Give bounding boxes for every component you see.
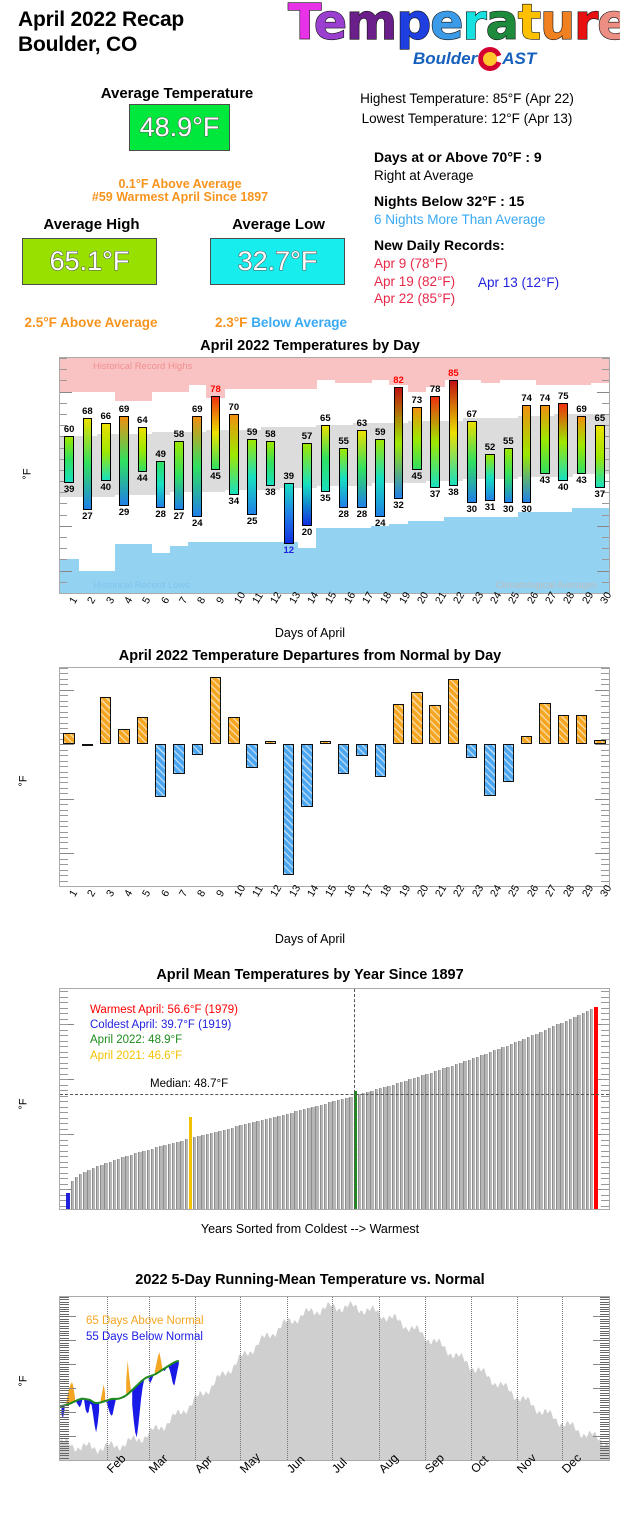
record-low-band bbox=[389, 524, 408, 593]
year-bar bbox=[455, 1064, 458, 1209]
chart3-minor-tick bbox=[60, 1178, 68, 1179]
chart3-minor-tick-right bbox=[601, 1156, 609, 1157]
chart3-annotation: Warmest April: 56.6°F (1979) bbox=[90, 1003, 238, 1018]
chart3-minor-tick bbox=[60, 1079, 68, 1080]
chart2-minor-tick-right bbox=[601, 755, 609, 756]
chart4-minor-tick bbox=[60, 1333, 69, 1334]
chart4-minor-tick bbox=[60, 1390, 69, 1391]
chart4-minor-tick-right bbox=[600, 1345, 609, 1346]
chart3-minor-tick bbox=[60, 991, 68, 992]
temp-bar bbox=[375, 439, 385, 517]
chart1-minor-tick-right bbox=[602, 582, 609, 583]
chart3-minor-tick-right bbox=[601, 1112, 609, 1113]
chart3-minor-tick-right bbox=[601, 1074, 609, 1075]
lowest-temperature: Lowest Temperature: 12°F (Apr 13) bbox=[318, 109, 616, 129]
departure-bar bbox=[320, 741, 331, 744]
chart2-minor-tick-right bbox=[601, 821, 609, 822]
chart1-minor-tick-right bbox=[602, 380, 609, 381]
chart2-gridline bbox=[60, 690, 74, 691]
year-bar bbox=[577, 1015, 580, 1209]
chart2-minor-tick-right bbox=[601, 870, 609, 871]
year-bar bbox=[210, 1133, 213, 1209]
chart2-minor-tick-right bbox=[601, 766, 609, 767]
logo-text-right: AST bbox=[502, 49, 536, 69]
chart4-minor-tick-right bbox=[600, 1362, 609, 1363]
temp-bar bbox=[595, 425, 605, 488]
chart4-minor-tick-right bbox=[600, 1367, 609, 1368]
year-bar bbox=[370, 1091, 373, 1209]
chart3-minor-tick-right bbox=[601, 1145, 609, 1146]
chart4-minor-tick bbox=[60, 1405, 69, 1406]
chart2-minor-tick-right bbox=[601, 810, 609, 811]
year-bar bbox=[155, 1147, 158, 1209]
chart4-minor-tick-right bbox=[600, 1426, 609, 1427]
above-normal-area bbox=[101, 1385, 106, 1403]
year-bar bbox=[294, 1111, 297, 1209]
year-bar bbox=[451, 1066, 454, 1209]
year-bar bbox=[434, 1071, 437, 1209]
chart4-minor-tick-right bbox=[600, 1371, 609, 1372]
chart2-minor-tick-right bbox=[601, 723, 609, 724]
chart4-minor-tick-right bbox=[600, 1355, 609, 1356]
chart1-minor-tick bbox=[60, 582, 67, 583]
days-above-70-header: Days at or Above 70°F : 9 bbox=[374, 149, 620, 167]
temp-bar bbox=[247, 439, 257, 515]
chart2-day-tick: 7 bbox=[177, 888, 190, 899]
chart3-minor-tick bbox=[60, 1046, 68, 1047]
year-bar bbox=[320, 1105, 323, 1209]
chart2-day-tick: 1 bbox=[67, 888, 80, 899]
temp-bar bbox=[412, 407, 422, 470]
chart2-minor-tick bbox=[60, 684, 68, 685]
year-bar bbox=[176, 1142, 179, 1209]
low-value-label: 38 bbox=[448, 487, 459, 498]
year-bar bbox=[172, 1143, 175, 1209]
chart4-minor-tick bbox=[60, 1383, 69, 1384]
chart2-minor-tick bbox=[60, 832, 68, 833]
chart3-minor-tick bbox=[60, 1151, 68, 1152]
chart3-minor-tick bbox=[60, 1096, 68, 1097]
year-bar bbox=[506, 1046, 509, 1209]
chart3-minor-tick-right bbox=[601, 1184, 609, 1185]
chart2-gridline bbox=[60, 744, 74, 745]
chart4-minor-tick bbox=[60, 1347, 69, 1348]
high-value-label: 78 bbox=[430, 384, 441, 395]
chart4-month-gridline bbox=[240, 1297, 241, 1460]
departure-bar bbox=[521, 736, 532, 744]
year-bar bbox=[421, 1075, 424, 1209]
record-high-band bbox=[481, 358, 500, 383]
avg-low-value-box: 32.7°F bbox=[210, 238, 345, 285]
avg-low-title: Average Low bbox=[196, 216, 361, 233]
chart4-minor-tick bbox=[60, 1429, 69, 1430]
chart3-annotation: Coldest April: 39.7°F (1919) bbox=[90, 1018, 238, 1033]
departure-bar bbox=[192, 744, 203, 755]
chart1-minor-tick bbox=[60, 548, 67, 549]
temp-bar bbox=[266, 441, 276, 486]
brand-letter-10: e bbox=[597, 0, 620, 51]
chart3-minor-tick bbox=[60, 1101, 68, 1102]
low-value-label: 29 bbox=[119, 507, 130, 518]
record-row: Apr 9 (78°F) bbox=[374, 255, 620, 272]
chart4-minor-tick bbox=[60, 1359, 69, 1360]
chart4-minor-tick-right bbox=[600, 1407, 609, 1408]
chart4-minor-tick-right bbox=[600, 1331, 609, 1332]
year-bar bbox=[252, 1122, 255, 1209]
median-line bbox=[60, 1094, 609, 1095]
chart4-minor-tick-right bbox=[600, 1412, 609, 1413]
chart4-minor-tick-right bbox=[600, 1333, 609, 1334]
brand-letter-8: u bbox=[540, 0, 574, 51]
chart2-day-tick: 2 bbox=[85, 888, 98, 899]
chart3-minor-tick-right bbox=[601, 1118, 609, 1119]
chart4-minor-tick bbox=[60, 1438, 69, 1439]
avg-temp-note-2: #59 Warmest April Since 1897 bbox=[52, 190, 308, 204]
nights-below-32-header: Nights Below 32°F : 15 bbox=[374, 193, 620, 211]
chart3-minor-tick bbox=[60, 1085, 68, 1086]
low-value-label: 27 bbox=[174, 511, 185, 522]
chart2-day-tick: 9 bbox=[214, 888, 227, 899]
chart2-minor-tick bbox=[60, 881, 68, 882]
page-title-line2: Boulder, CO bbox=[18, 33, 184, 58]
year-bar bbox=[535, 1034, 538, 1209]
year-bar bbox=[396, 1083, 399, 1209]
chart4-minor-tick bbox=[60, 1395, 69, 1396]
year-bar bbox=[227, 1129, 230, 1209]
chart1-day-tick: 1 bbox=[67, 595, 80, 606]
temp-bar bbox=[339, 448, 349, 508]
departure-bar bbox=[484, 744, 495, 796]
chart4-minor-tick-right bbox=[600, 1369, 609, 1370]
chart3-minor-tick-right bbox=[601, 1019, 609, 1020]
chart3-minor-tick bbox=[60, 1052, 68, 1053]
chart3-minor-tick bbox=[60, 1035, 68, 1036]
chart4-minor-tick bbox=[60, 1426, 69, 1427]
year-bar bbox=[358, 1094, 361, 1209]
chart4-minor-tick-right bbox=[600, 1455, 609, 1456]
chart1-minor-tick bbox=[60, 369, 67, 370]
chart3-minor-tick bbox=[60, 1189, 68, 1190]
chart2-day-tick: 8 bbox=[195, 888, 208, 899]
chart4-minor-tick-right bbox=[600, 1309, 609, 1310]
year-bar bbox=[497, 1049, 500, 1209]
daily-temperature-chart: 0204060806039682766406929644449285827692… bbox=[59, 357, 610, 594]
record-row-cold: Apr 13 (12°F) bbox=[478, 274, 559, 291]
year-bar bbox=[130, 1155, 133, 1209]
departure-bar bbox=[393, 704, 404, 744]
chart2-minor-tick bbox=[60, 772, 68, 773]
chart4-minor-tick-right bbox=[600, 1297, 609, 1298]
chart4-minor-tick bbox=[60, 1335, 69, 1336]
record-low-band bbox=[444, 517, 463, 593]
year-bar bbox=[408, 1079, 411, 1209]
temp-bar bbox=[558, 403, 568, 481]
year-bar bbox=[468, 1060, 471, 1209]
chart2-gridline-right bbox=[595, 690, 609, 691]
year-bar bbox=[375, 1089, 378, 1209]
brand-letter-0: T bbox=[288, 0, 314, 51]
chart3-annotation: April 2022: 48.9°F bbox=[90, 1033, 238, 1048]
high-value-label: 73 bbox=[412, 395, 423, 406]
chart3-minor-tick bbox=[60, 1112, 68, 1113]
high-value-label: 85 bbox=[448, 368, 459, 379]
chart2-day-tick: 3 bbox=[104, 888, 117, 899]
chart4-minor-tick bbox=[60, 1371, 69, 1372]
record-low-band bbox=[463, 517, 482, 593]
temp-bar bbox=[156, 461, 166, 508]
year-bar bbox=[117, 1159, 120, 1209]
chart4-minor-tick-right bbox=[600, 1321, 609, 1322]
temp-bar bbox=[394, 387, 404, 499]
chart2-minor-tick bbox=[60, 826, 68, 827]
chart3-minor-tick bbox=[60, 1173, 68, 1174]
record-high-band bbox=[60, 358, 79, 392]
chart4-minor-tick-right bbox=[600, 1390, 609, 1391]
chart4-minor-tick bbox=[60, 1309, 69, 1310]
year-bar bbox=[565, 1021, 568, 1209]
chart3-minor-tick-right bbox=[601, 1008, 609, 1009]
page-title-line1: April 2022 Recap bbox=[18, 8, 184, 33]
record-high-band bbox=[261, 358, 280, 389]
chart3-minor-tick-right bbox=[601, 1162, 609, 1163]
median-label: Median: 48.7°F bbox=[150, 1078, 228, 1090]
chart1-day-tick: 5 bbox=[140, 595, 153, 606]
chart3-minor-tick-right bbox=[601, 1041, 609, 1042]
chart2-gridline bbox=[60, 853, 74, 854]
year-bar bbox=[303, 1109, 306, 1209]
temp-bar bbox=[211, 396, 221, 470]
year-bar bbox=[248, 1123, 251, 1209]
chart1-minor-tick bbox=[60, 559, 67, 560]
year-bar bbox=[539, 1032, 542, 1209]
logo-text-left: Boulder bbox=[413, 49, 477, 69]
record-highs-band-label: Historical Record Highs bbox=[93, 361, 192, 372]
departure-bar bbox=[137, 717, 148, 744]
high-value-label: 60 bbox=[64, 424, 75, 435]
record-lows-band-label: Historical Record Lows bbox=[93, 580, 190, 591]
chart4-minor-tick-right bbox=[600, 1429, 609, 1430]
chart2-minor-tick-right bbox=[601, 782, 609, 783]
year-bar bbox=[510, 1044, 513, 1209]
year-bar bbox=[459, 1063, 462, 1209]
brand-wordmark: Temperature bbox=[288, 0, 620, 47]
year-bar bbox=[387, 1086, 390, 1209]
chart4-minor-tick-right bbox=[600, 1405, 609, 1406]
chart4-minor-tick-right bbox=[600, 1388, 609, 1389]
chart2-minor-tick-right bbox=[601, 793, 609, 794]
record-low-band bbox=[188, 542, 207, 593]
chart2-minor-tick-right bbox=[601, 712, 609, 713]
chart3-minor-tick-right bbox=[601, 1178, 609, 1179]
year-bar bbox=[379, 1088, 382, 1209]
chart4-legend: 65 Days Above Normal55 Days Below Normal bbox=[86, 1313, 204, 1345]
chart2-gridline-right bbox=[595, 853, 609, 854]
chart4-minor-tick bbox=[60, 1316, 69, 1317]
year-bar bbox=[125, 1156, 128, 1209]
chart2-gridline bbox=[60, 799, 74, 800]
chart2-minor-tick bbox=[60, 723, 68, 724]
year-bar bbox=[151, 1149, 154, 1209]
chart3-minor-tick-right bbox=[601, 1140, 609, 1141]
record-low-band bbox=[335, 528, 354, 593]
year-bar bbox=[79, 1174, 82, 1209]
low-value-label: 28 bbox=[338, 509, 349, 520]
chart3-annotation: April 2021: 46.6°F bbox=[90, 1049, 238, 1064]
chart3-minor-tick bbox=[60, 1184, 68, 1185]
chart4-minor-tick bbox=[60, 1367, 69, 1368]
chart3-minor-tick-right bbox=[601, 1079, 609, 1080]
chart4-minor-tick bbox=[60, 1302, 69, 1303]
april-means-by-year-chart: 55504540Median: 48.7°FWarmest April: 56.… bbox=[59, 988, 610, 1210]
record-low-band bbox=[298, 548, 317, 593]
year-bar bbox=[522, 1039, 525, 1209]
year-bar bbox=[328, 1102, 331, 1209]
chart4-minor-tick-right bbox=[600, 1381, 609, 1382]
chart4-minor-tick-right bbox=[600, 1458, 609, 1459]
chart4-minor-tick-right bbox=[600, 1386, 609, 1387]
low-value-label: 25 bbox=[247, 516, 258, 527]
chart2-minor-tick bbox=[60, 766, 68, 767]
chart2-minor-tick bbox=[60, 848, 68, 849]
departure-bar bbox=[173, 744, 184, 773]
chart4-minor-tick bbox=[60, 1424, 69, 1425]
year-bar bbox=[514, 1042, 517, 1209]
chart1-minor-tick bbox=[60, 593, 67, 594]
high-value-label: 75 bbox=[558, 391, 569, 402]
chart4-minor-tick bbox=[60, 1323, 69, 1324]
year-bar bbox=[113, 1160, 116, 1209]
chart2-x-label: Days of April bbox=[0, 932, 620, 946]
high-value-label: 64 bbox=[137, 415, 148, 426]
year-bar bbox=[552, 1026, 555, 1209]
chart3-minor-tick-right bbox=[601, 1123, 609, 1124]
temp-bar bbox=[192, 416, 202, 517]
year-bar bbox=[417, 1077, 420, 1209]
chart4-minor-tick bbox=[60, 1453, 69, 1454]
chart4-minor-tick bbox=[60, 1319, 69, 1320]
departure-bar bbox=[301, 744, 312, 807]
chart4-minor-tick-right bbox=[600, 1460, 609, 1461]
temp-bar bbox=[174, 441, 184, 510]
chart2-minor-tick-right bbox=[601, 788, 609, 789]
record-high-band bbox=[518, 358, 537, 380]
chart1-gridline bbox=[60, 392, 72, 393]
chart2-minor-tick bbox=[60, 837, 68, 838]
brand-letter-2: m bbox=[346, 0, 396, 51]
year-bar bbox=[332, 1101, 335, 1209]
chart4-minor-tick bbox=[60, 1340, 69, 1341]
chart1-minor-tick bbox=[60, 380, 67, 381]
record-high-band bbox=[280, 358, 299, 389]
chart4-minor-tick-right bbox=[600, 1335, 609, 1336]
chart4-minor-tick bbox=[60, 1443, 69, 1444]
chart3-minor-tick bbox=[60, 1041, 68, 1042]
chart2-minor-tick-right bbox=[601, 832, 609, 833]
departure-bar bbox=[265, 741, 276, 744]
chart4-minor-tick-right bbox=[600, 1402, 609, 1403]
year-bar bbox=[594, 1007, 597, 1209]
record-high-band bbox=[572, 358, 591, 385]
chart1-y-label: °F bbox=[22, 468, 34, 479]
chart4-month-gridline bbox=[332, 1297, 333, 1460]
chart4-minor-tick-right bbox=[600, 1410, 609, 1411]
chart4-minor-tick bbox=[60, 1448, 69, 1449]
chart2-minor-tick-right bbox=[601, 728, 609, 729]
chart4-minor-tick bbox=[60, 1431, 69, 1432]
chart3-minor-tick bbox=[60, 1074, 68, 1075]
high-value-label: 69 bbox=[576, 404, 587, 415]
chart4-minor-tick-right bbox=[600, 1383, 609, 1384]
record-high-band bbox=[408, 358, 427, 392]
year-bar bbox=[231, 1128, 234, 1209]
bouldercast-logo: Boulder AST bbox=[413, 47, 536, 71]
high-value-label: 68 bbox=[82, 406, 93, 417]
year-bar bbox=[400, 1082, 403, 1209]
chart4-minor-tick bbox=[60, 1441, 69, 1442]
low-value-label: 43 bbox=[576, 475, 587, 486]
low-value-label: 45 bbox=[210, 471, 221, 482]
high-value-label: 49 bbox=[155, 449, 166, 460]
chart4-minor-tick-right bbox=[600, 1419, 609, 1420]
chart2-minor-tick bbox=[60, 673, 68, 674]
high-value-label: 74 bbox=[540, 393, 551, 404]
chart3-minor-tick-right bbox=[601, 1085, 609, 1086]
new-daily-records-header: New Daily Records: bbox=[374, 237, 620, 255]
above-normal-area bbox=[126, 1361, 131, 1396]
chart3-minor-tick-right bbox=[601, 1096, 609, 1097]
high-value-label: 55 bbox=[338, 436, 349, 447]
extremes-block: Highest Temperature: 85°F (Apr 22) Lowes… bbox=[318, 89, 616, 130]
chart2-minor-tick-right bbox=[601, 750, 609, 751]
chart3-minor-tick-right bbox=[601, 1206, 609, 1207]
chart3-minor-tick-right bbox=[601, 1030, 609, 1031]
chart2-minor-tick-right bbox=[601, 777, 609, 778]
year-bar bbox=[66, 1193, 69, 1210]
chart4-minor-tick bbox=[60, 1326, 69, 1327]
chart3-minor-tick-right bbox=[601, 1013, 609, 1014]
chart4-minor-tick bbox=[60, 1314, 69, 1315]
chart3-minor-tick-right bbox=[601, 1200, 609, 1201]
departure-bar bbox=[118, 729, 129, 744]
chart4-month-gridline bbox=[425, 1297, 426, 1460]
record-low-band bbox=[316, 528, 335, 593]
chart3-minor-tick bbox=[60, 1008, 68, 1009]
chart4-minor-tick bbox=[60, 1398, 69, 1399]
chart2-minor-tick bbox=[60, 728, 68, 729]
chart2-minor-tick-right bbox=[601, 733, 609, 734]
departure-bar bbox=[356, 744, 367, 756]
year-bar bbox=[531, 1035, 534, 1209]
new-daily-records-list: Apr 9 (78°F) Apr 19 (82°F) Apr 22 (85°F)… bbox=[374, 255, 620, 307]
chart2-minor-tick-right bbox=[601, 695, 609, 696]
avg-low-note-delta: 2.3°F bbox=[215, 315, 247, 330]
chart1-minor-tick bbox=[60, 414, 67, 415]
chart2-x-tick-labels: 1234567891011121314151617181920212223242… bbox=[59, 891, 608, 917]
year-bar bbox=[337, 1100, 340, 1209]
temp-bar bbox=[540, 405, 550, 474]
chart4-x-tick-labels: FebMarAprMayJunJulAugSepOctNovDec bbox=[59, 1464, 608, 1504]
chart2-minor-tick-right bbox=[601, 706, 609, 707]
departure-bar bbox=[411, 692, 422, 744]
chart4-minor-tick-right bbox=[600, 1299, 609, 1300]
chart2-minor-tick bbox=[60, 821, 68, 822]
chart3-minor-tick-right bbox=[601, 1002, 609, 1003]
high-value-label: 69 bbox=[192, 404, 203, 415]
chart2-minor-tick bbox=[60, 782, 68, 783]
chart1-day-tick: 4 bbox=[122, 595, 135, 606]
chart2-y-label: °F bbox=[18, 775, 30, 786]
year-bar bbox=[159, 1146, 162, 1209]
